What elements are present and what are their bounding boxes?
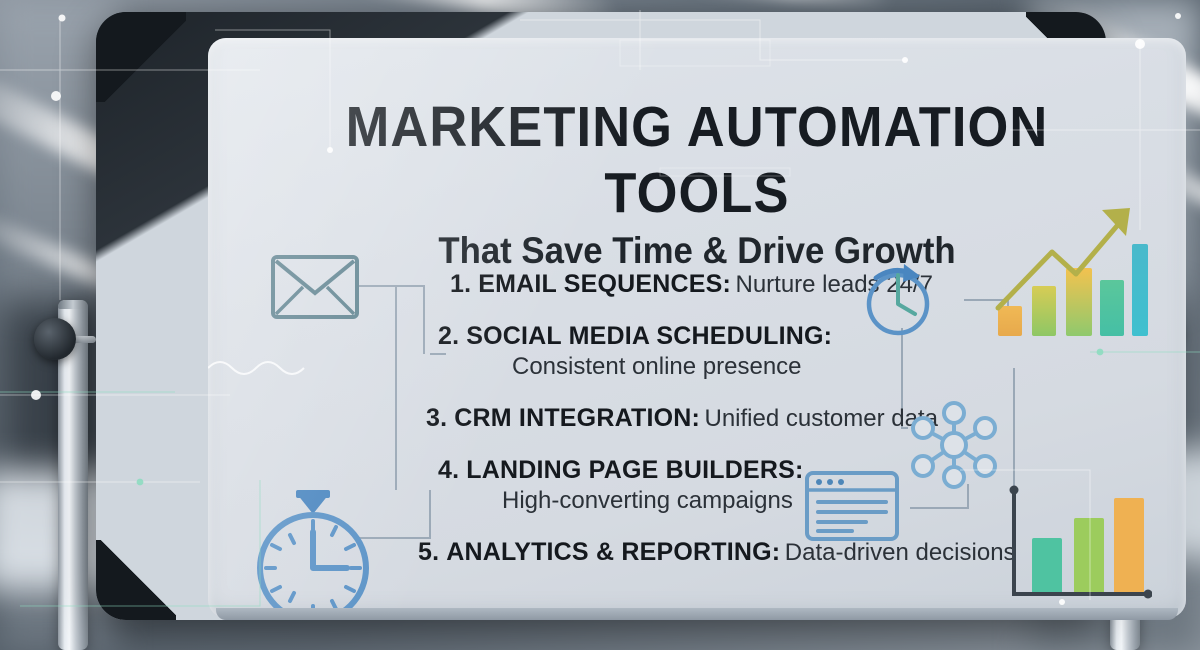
ceiling-light bbox=[689, 0, 891, 9]
marker-tray bbox=[216, 608, 1178, 620]
list-item-heading: EMAIL SEQUENCES: bbox=[478, 270, 731, 298]
spacer bbox=[404, 387, 964, 404]
list-item-heading: SOCIAL MEDIA SCHEDULING: bbox=[466, 322, 832, 350]
decorative-squiggle bbox=[208, 362, 304, 374]
whiteboard-frame: MARKETING AUTOMATION TOOLS That Save Tim… bbox=[96, 12, 1106, 620]
whiteboard-surface: MARKETING AUTOMATION TOOLS That Save Tim… bbox=[208, 38, 1186, 618]
list-item-number: 3. bbox=[426, 404, 447, 432]
results-bar-chart bbox=[1002, 480, 1152, 610]
list-item-description: Unified customer data bbox=[704, 405, 937, 432]
stand-cap bbox=[58, 300, 88, 309]
clock-arrow-icon bbox=[860, 260, 940, 340]
list-item-number: 5. bbox=[418, 538, 439, 566]
list-item-description: Data-driven decisions bbox=[785, 539, 1016, 566]
list-item: 3.CRM INTEGRATION: Unified customer data bbox=[404, 404, 964, 433]
stand-knob-left bbox=[34, 318, 76, 360]
network-hub-icon bbox=[908, 400, 1000, 490]
list-item-number: 2. bbox=[438, 322, 459, 350]
list-item-number: 1. bbox=[450, 270, 471, 298]
stopwatch-icon bbox=[244, 488, 382, 618]
list-item-number: 4. bbox=[438, 456, 459, 484]
growth-bar-chart bbox=[990, 196, 1150, 346]
envelope-icon bbox=[270, 254, 360, 320]
spacer bbox=[404, 439, 964, 456]
list-item: 5.ANALYTICS & REPORTING: Data-driven dec… bbox=[404, 538, 964, 567]
list-item-description: High-converting campaigns bbox=[502, 487, 793, 514]
browser-window-icon bbox=[804, 470, 900, 542]
list-item-description: Consistent online presence bbox=[512, 353, 802, 380]
list-item-heading: ANALYTICS & REPORTING: bbox=[446, 538, 780, 566]
list-item-heading: LANDING PAGE BUILDERS: bbox=[466, 456, 803, 484]
slide-canvas: MARKETING AUTOMATION TOOLS That Save Tim… bbox=[0, 0, 1200, 650]
list-item-heading: CRM INTEGRATION: bbox=[454, 404, 700, 432]
